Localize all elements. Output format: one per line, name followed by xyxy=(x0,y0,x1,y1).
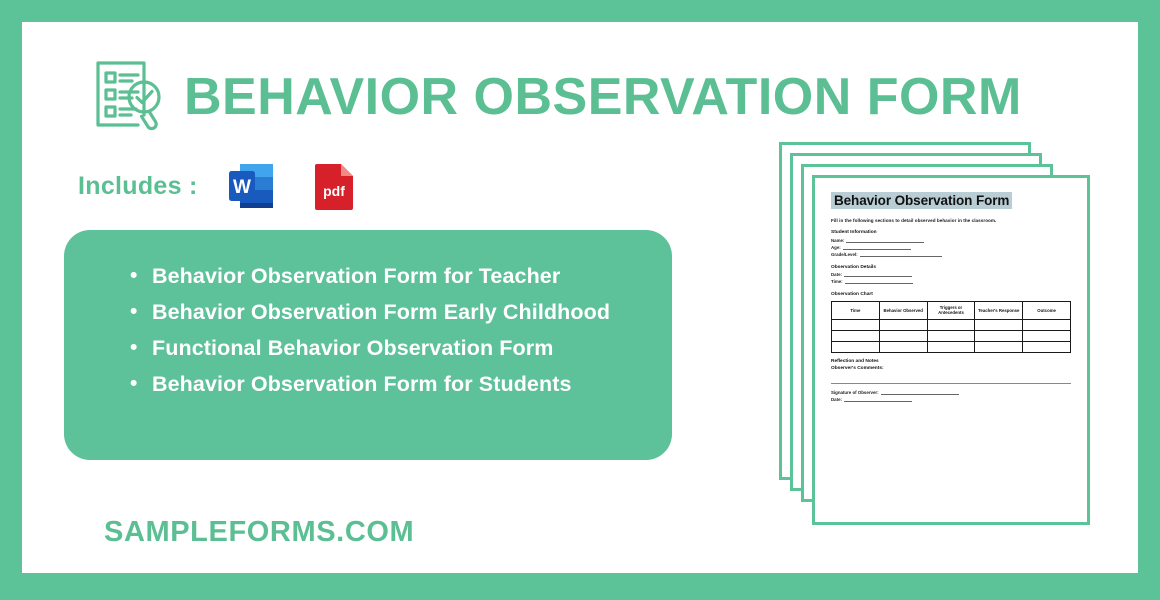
list-item[interactable]: Behavior Observation Form for Students xyxy=(130,366,638,402)
column-header: Time xyxy=(832,302,880,320)
table-cell[interactable] xyxy=(1023,319,1071,330)
pdf-file-icon: pdf xyxy=(306,158,362,214)
form-list: Behavior Observation Form for Teacher Be… xyxy=(130,258,638,402)
field-label: Time: xyxy=(831,279,843,284)
document-title: Behavior Observation Form xyxy=(831,192,1012,209)
field-rule xyxy=(844,273,912,277)
table-cell[interactable] xyxy=(879,319,927,330)
chart-label: Observation Chart xyxy=(831,292,1071,297)
page-title: BEHAVIOR OBSERVATION FORM xyxy=(184,71,1022,123)
table-cell[interactable] xyxy=(879,330,927,341)
svg-text:pdf: pdf xyxy=(323,183,345,199)
table-header-row: Time Behavior Observed Triggers or Antec… xyxy=(832,302,1071,320)
includes-label: Includes : xyxy=(78,172,198,201)
poster-frame: BEHAVIOR OBSERVATION FORM Includes : W xyxy=(0,0,1160,600)
table-cell[interactable] xyxy=(927,341,975,352)
column-header: Outcome xyxy=(1023,302,1071,320)
brand-footer: SAMPLEFORMS.COM xyxy=(104,516,414,549)
form-list-card: Behavior Observation Form for Teacher Be… xyxy=(64,230,672,460)
column-header: Triggers or Antecedents xyxy=(927,302,975,320)
section-heading: Student Information xyxy=(831,230,1071,235)
field-label: Signature of Observer: xyxy=(831,390,879,395)
field-label: Date: xyxy=(831,272,842,277)
field-label: Grade/Level: xyxy=(831,252,858,257)
table-cell[interactable] xyxy=(975,319,1023,330)
field-label: Age: xyxy=(831,245,841,250)
observation-table: Time Behavior Observed Triggers or Antec… xyxy=(831,301,1071,353)
includes-row: Includes : W pdf xyxy=(78,155,362,217)
section-heading: Observation Details xyxy=(831,265,1071,270)
table-cell[interactable] xyxy=(832,319,880,330)
field-grade-level: Grade/Level: xyxy=(831,252,1071,257)
table-cell[interactable] xyxy=(927,319,975,330)
table-cell[interactable] xyxy=(1023,341,1071,352)
field-rule xyxy=(846,239,924,243)
document-stack: Behavior Observation Form Fill in the fo… xyxy=(779,142,1099,534)
field-rule xyxy=(860,253,942,257)
table-row xyxy=(832,341,1071,352)
document-intro: Fill in the following sections to detail… xyxy=(831,218,1071,223)
field-rule xyxy=(843,246,911,250)
list-item[interactable]: Functional Behavior Observation Form xyxy=(130,330,638,366)
field-label: Date: xyxy=(831,397,842,402)
field-signature: Signature of Observer: xyxy=(831,390,1071,395)
list-item[interactable]: Behavior Observation Form for Teacher xyxy=(130,258,638,294)
table-cell[interactable] xyxy=(832,330,880,341)
field-rule xyxy=(881,391,959,395)
table-cell[interactable] xyxy=(927,330,975,341)
column-header: Teacher's Response xyxy=(975,302,1023,320)
field-date: Date: xyxy=(831,272,1071,277)
clipboard-checklist-magnifier-icon xyxy=(92,57,166,137)
word-file-icon: W xyxy=(224,158,280,214)
field-signature-date: Date: xyxy=(831,397,1071,402)
column-header: Behavior Observed xyxy=(879,302,927,320)
field-age: Age: xyxy=(831,245,1071,250)
table-cell[interactable] xyxy=(1023,330,1071,341)
header: BEHAVIOR OBSERVATION FORM xyxy=(92,47,1072,147)
table-cell[interactable] xyxy=(879,341,927,352)
table-cell[interactable] xyxy=(832,341,880,352)
document-preview[interactable]: Behavior Observation Form Fill in the fo… xyxy=(812,175,1090,525)
field-name: Name: xyxy=(831,238,1071,243)
field-time: Time: xyxy=(831,279,1071,284)
signature-block: Signature of Observer: Date: xyxy=(831,390,1071,402)
field-rule xyxy=(844,398,912,402)
poster-canvas: BEHAVIOR OBSERVATION FORM Includes : W xyxy=(22,22,1138,573)
comments-rule xyxy=(831,374,1071,384)
table-cell[interactable] xyxy=(975,330,1023,341)
svg-text:W: W xyxy=(233,177,251,198)
field-rule xyxy=(845,280,913,284)
table-cell[interactable] xyxy=(975,341,1023,352)
table-row xyxy=(832,319,1071,330)
reflection-heading: Reflection and Notes xyxy=(831,359,1071,364)
field-label: Name: xyxy=(831,238,844,243)
observer-comments-label: Observer's Comments: xyxy=(831,366,1071,371)
list-item[interactable]: Behavior Observation Form Early Childhoo… xyxy=(130,294,638,330)
table-row xyxy=(832,330,1071,341)
